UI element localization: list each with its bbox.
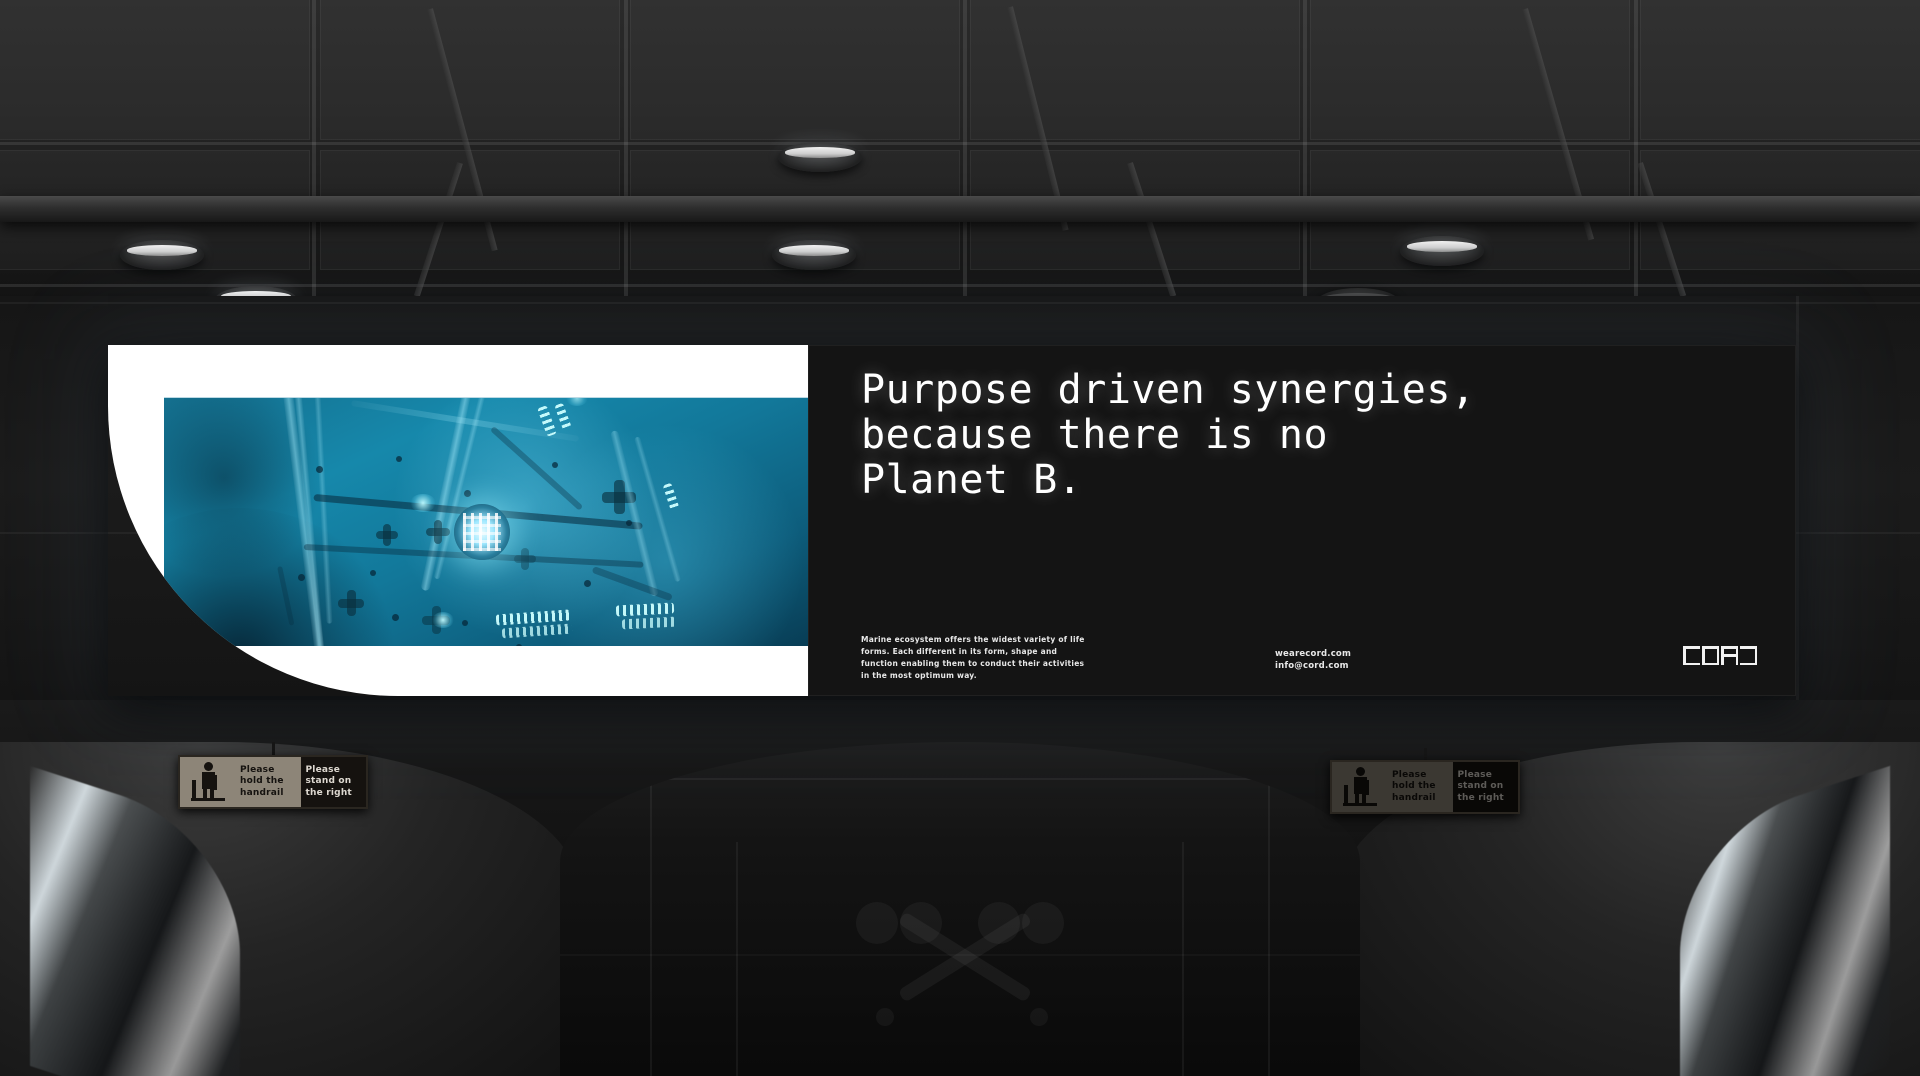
sign-text-handrail: Please hold the handrail: [235, 757, 301, 807]
contact-email[interactable]: info@cord.com: [1275, 660, 1351, 672]
logo-letter-d: [1740, 646, 1757, 665]
escalator-sign-right: Please hold the handrail Please stand on…: [1330, 760, 1520, 814]
logo-letter-r: [1721, 646, 1738, 665]
cord-logo: [1683, 646, 1757, 665]
station-scene: Purpose driven synergies, because there …: [0, 0, 1920, 1076]
ceiling-light: [772, 240, 856, 270]
poster-white-panel: [108, 345, 808, 696]
poster-dark-panel: Purpose driven synergies, because there …: [808, 345, 1796, 696]
center-structure: [560, 742, 1360, 1076]
logo-letter-o: [1702, 646, 1719, 665]
escalator-sign-left: Please hold the handrail Please stand on…: [178, 755, 368, 809]
sign-text-stand-right: Please stand on the right: [301, 757, 367, 807]
logo-letter-c: [1683, 646, 1700, 665]
ceiling: [0, 0, 1920, 330]
handrail-pictogram-icon: [1332, 762, 1387, 812]
poster-headline: Purpose driven synergies, because there …: [861, 368, 1755, 502]
ceiling-light: [1400, 236, 1484, 266]
ceiling-light: [778, 142, 862, 172]
sign-text-stand-right: Please stand on the right: [1453, 762, 1519, 812]
poster-contact: wearecord.com info@cord.com: [1275, 648, 1351, 673]
billboard-poster[interactable]: Purpose driven synergies, because there …: [108, 345, 1796, 696]
sign-text-handrail: Please hold the handrail: [1387, 762, 1453, 812]
marine-photo: [164, 397, 808, 646]
poster-body-copy: Marine ecosystem offers the widest varie…: [861, 634, 1093, 683]
porthole-light: [454, 504, 510, 560]
contact-website[interactable]: wearecord.com: [1275, 648, 1351, 660]
handrail-pictogram-icon: [180, 757, 235, 807]
ceiling-light: [120, 240, 204, 270]
